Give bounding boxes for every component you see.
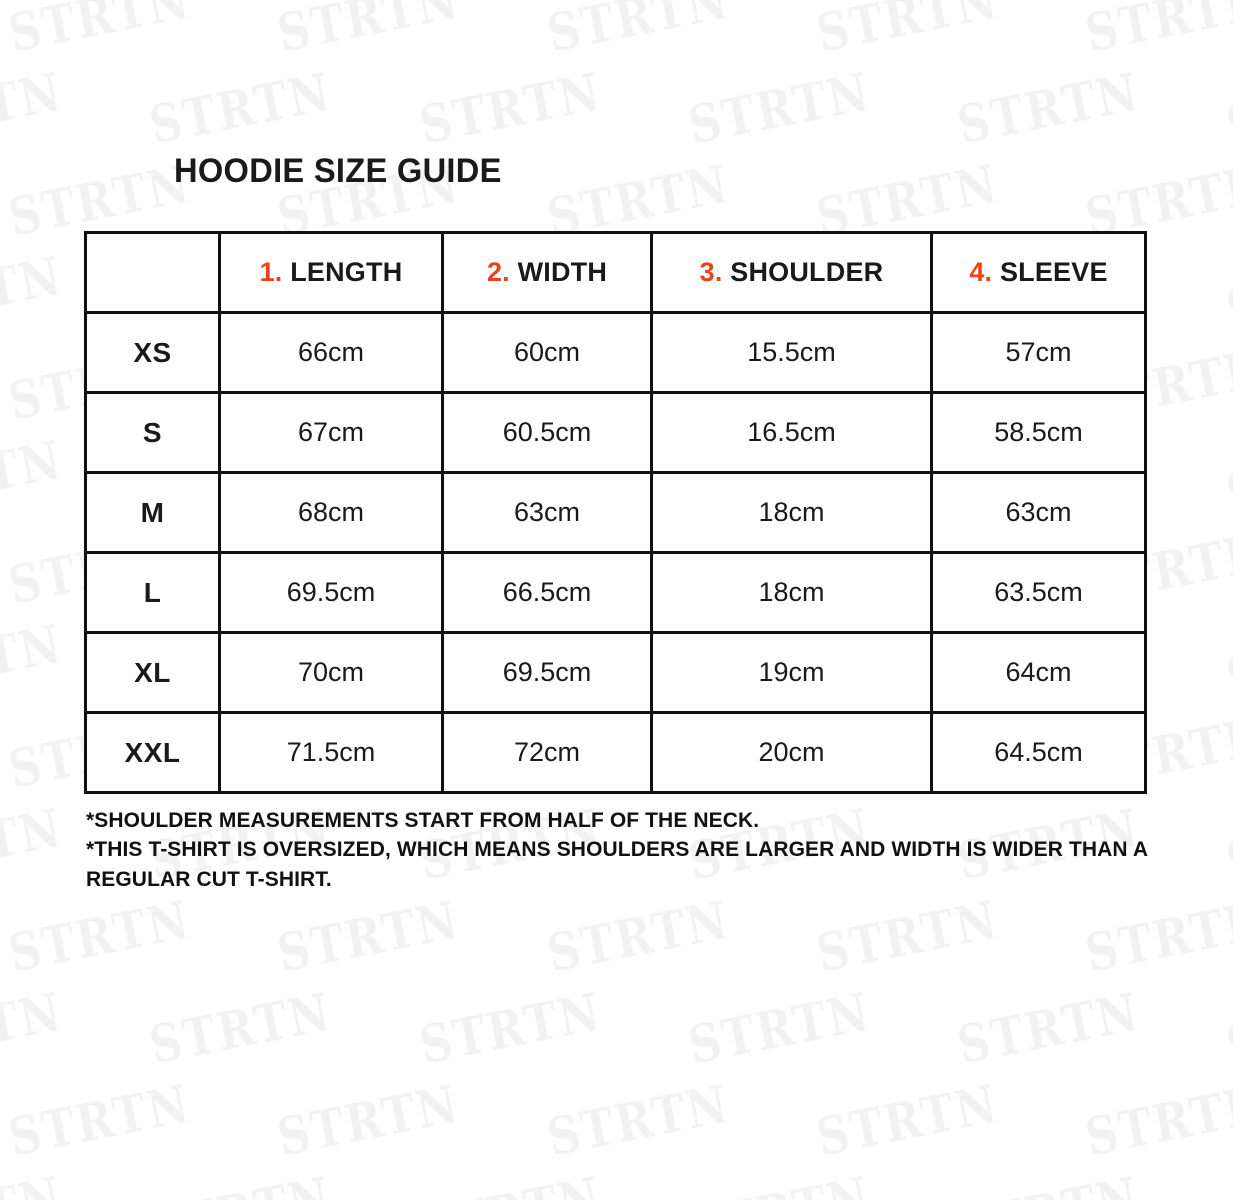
watermark-row: STRTNSTRTNSTRTNSTRTNSTRTNSTRTNSTRTN [0, 1076, 1233, 1168]
column-header-shoulder: 3. SHOULDER [652, 233, 932, 313]
footnote-shoulder: *SHOULDER MEASUREMENTS START FROM HALF O… [86, 806, 1166, 835]
value-width: 60cm [443, 313, 652, 393]
watermark-text: STRTN [0, 1051, 200, 1193]
value-width: 72cm [443, 713, 652, 793]
size-guide-page: HOODIE SIZE GUIDE 1. LENGTH 2. WIDTH [0, 0, 1233, 1067]
value-length: 70cm [220, 633, 443, 713]
watermark-text: STRTN [0, 1143, 72, 1200]
value-length: 66cm [220, 313, 443, 393]
value-shoulder: 15.5cm [652, 313, 932, 393]
value-sleeve: 57cm [932, 313, 1146, 393]
size-label: XS [86, 313, 220, 393]
watermark-text: STRTN [410, 1143, 611, 1200]
watermark-text: STRTN [948, 1143, 1149, 1200]
table-row: M 68cm 63cm 18cm 63cm [86, 473, 1146, 553]
page-title: HOODIE SIZE GUIDE [174, 152, 502, 191]
column-number-3: 3. [700, 257, 723, 287]
size-label: M [86, 473, 220, 553]
footnote-oversized: *THIS T-SHIRT IS OVERSIZED, WHICH MEANS … [86, 835, 1166, 894]
value-sleeve: 64cm [932, 633, 1146, 713]
table-row: XL 70cm 69.5cm 19cm 64cm [86, 633, 1146, 713]
footnotes: *SHOULDER MEASUREMENTS START FROM HALF O… [86, 806, 1166, 894]
value-shoulder: 20cm [652, 713, 932, 793]
value-width: 60.5cm [443, 393, 652, 473]
table-row: XS 66cm 60cm 15.5cm 57cm [86, 313, 1146, 393]
column-header-width: 2. WIDTH [443, 233, 652, 313]
table-row: S 67cm 60.5cm 16.5cm 58.5cm [86, 393, 1146, 473]
value-shoulder: 16.5cm [652, 393, 932, 473]
value-length: 71.5cm [220, 713, 443, 793]
value-shoulder: 19cm [652, 633, 932, 713]
value-sleeve: 58.5cm [932, 393, 1146, 473]
table-row: L 69.5cm 66.5cm 18cm 63.5cm [86, 553, 1146, 633]
watermark-text: STRTN [1076, 1051, 1233, 1193]
value-length: 69.5cm [220, 553, 443, 633]
column-number-2: 2. [487, 257, 510, 287]
table-row: XXL 71.5cm 72cm 20cm 64.5cm [86, 713, 1146, 793]
value-sleeve: 63.5cm [932, 553, 1146, 633]
size-label: S [86, 393, 220, 473]
column-label-width: WIDTH [518, 257, 607, 287]
column-label-shoulder: SHOULDER [730, 257, 883, 287]
size-label: L [86, 553, 220, 633]
watermark-text: STRTN [807, 1051, 1008, 1193]
column-label-length: LENGTH [290, 257, 402, 287]
column-header-length: 1. LENGTH [220, 233, 443, 313]
value-sleeve: 64.5cm [932, 713, 1146, 793]
column-header-sleeve: 4. SLEEVE [932, 233, 1146, 313]
value-shoulder: 18cm [652, 473, 932, 553]
size-label: XXL [86, 713, 220, 793]
value-length: 67cm [220, 393, 443, 473]
size-table: 1. LENGTH 2. WIDTH 3. SHOULDER 4. SLEEVE [84, 231, 1147, 794]
column-label-sleeve: SLEEVE [1000, 257, 1108, 287]
value-width: 66.5cm [443, 553, 652, 633]
watermark-text: STRTN [269, 1051, 470, 1193]
value-width: 69.5cm [443, 633, 652, 713]
watermark-text: STRTN [141, 1143, 342, 1200]
value-sleeve: 63cm [932, 473, 1146, 553]
corner-cell [86, 233, 220, 313]
watermark-text: STRTN [1218, 1143, 1233, 1200]
column-number-1: 1. [260, 257, 283, 287]
watermark-row: STRTNSTRTNSTRTNSTRTNSTRTNSTRTNSTRTN [0, 1168, 1233, 1200]
table-header: 1. LENGTH 2. WIDTH 3. SHOULDER 4. SLEEVE [86, 233, 1146, 313]
value-width: 63cm [443, 473, 652, 553]
table-body: XS 66cm 60cm 15.5cm 57cm S 67cm 60.5cm 1… [86, 313, 1146, 793]
watermark-text: STRTN [679, 1143, 880, 1200]
value-length: 68cm [220, 473, 443, 553]
header-row: 1. LENGTH 2. WIDTH 3. SHOULDER 4. SLEEVE [86, 233, 1146, 313]
value-shoulder: 18cm [652, 553, 932, 633]
column-number-4: 4. [969, 257, 992, 287]
size-label: XL [86, 633, 220, 713]
watermark-text: STRTN [538, 1051, 739, 1193]
size-table-container: 1. LENGTH 2. WIDTH 3. SHOULDER 4. SLEEVE [84, 231, 1144, 794]
